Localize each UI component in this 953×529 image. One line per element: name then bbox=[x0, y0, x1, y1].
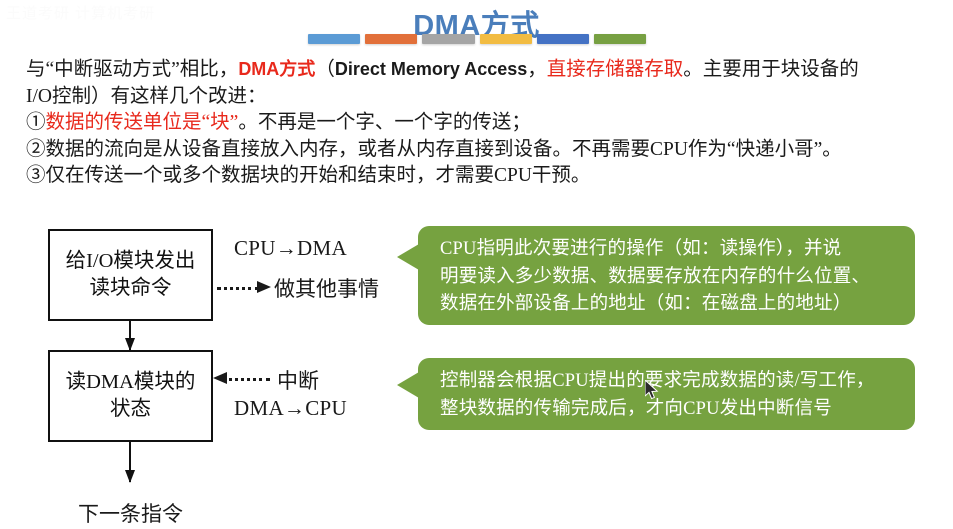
paragraph-intro: 与“中断驱动方式”相比，DMA方式（Direct Memory Access，直… bbox=[26, 56, 936, 84]
flowchart-label-cpu-to-dma: CPU→DMA bbox=[234, 236, 347, 261]
colorbar-segment-1 bbox=[308, 34, 360, 44]
callout-cpu-line3: 数据在外部设备上的地址（如：在磁盘上的地址） bbox=[440, 291, 899, 319]
callout-cpu-description: CPU指明此次要进行的操作（如：读操作），并说 明要读入多少数据、数据要存放在内… bbox=[418, 226, 915, 325]
flowchart-arrowhead-right-icon bbox=[257, 281, 271, 293]
flowchart-label-interrupt: 中断 bbox=[277, 365, 319, 395]
slide-canvas: 王道考研 计算机考研 DMA方式 与“中断驱动方式”相比，DMA方式（Direc… bbox=[0, 0, 953, 529]
flowchart-dotted-line-1 bbox=[217, 287, 259, 290]
list-item-1-rest: 。不再是一个字、一个字的传送； bbox=[238, 112, 531, 133]
title-colorbar bbox=[308, 34, 646, 44]
flowchart-label-next-instruction: 下一条指令 bbox=[78, 498, 183, 528]
callout-controller-line1: 控制器会根据CPU提出的要求完成数据的读/写工作， bbox=[440, 368, 899, 396]
intro-part-b: （ bbox=[315, 59, 335, 80]
intro-part-a: 与“中断驱动方式”相比， bbox=[26, 59, 238, 80]
list-item-3: ③仅在传送一个或多个数据块的开始和结束时，才需要CPU干预。 bbox=[26, 163, 936, 190]
box-dma-status-line1: 读DMA模块的 bbox=[66, 369, 196, 396]
flowchart-label-dma-to-cpu: DMA→CPU bbox=[234, 396, 347, 421]
callout-cpu-line2: 明要读入多少数据、数据要存放在内存的什么位置、 bbox=[440, 264, 899, 292]
paragraph-intro-line2: I/O控制）有这样几个改进： bbox=[26, 84, 936, 111]
list-item-1-number: ① bbox=[26, 112, 46, 133]
callout-cpu-line1: CPU指明此次要进行的操作（如：读操作），并说 bbox=[440, 236, 899, 264]
intro-dma-term: DMA方式 bbox=[238, 59, 315, 79]
intro-latin-term: Direct Memory Access bbox=[335, 59, 527, 79]
intro-red-term: 直接存储器存取 bbox=[547, 59, 684, 80]
callout-controller-description: 控制器会根据CPU提出的要求完成数据的读/写工作， 整块数据的传输完成后，才向C… bbox=[418, 358, 915, 430]
list-item-1-highlight: 数据的传送单位是“块” bbox=[46, 112, 239, 133]
flowchart-dotted-line-2 bbox=[222, 378, 270, 381]
intro-part-d: 。主要用于块设备的 bbox=[683, 59, 859, 80]
body-text-block: 与“中断驱动方式”相比，DMA方式（Direct Memory Access，直… bbox=[26, 56, 936, 190]
callout-tail-icon bbox=[397, 244, 419, 270]
flowchart-box-read-command: 给I/O模块发出 读块命令 bbox=[48, 229, 213, 321]
flowchart-arrow-down-2 bbox=[129, 442, 131, 482]
colorbar-segment-2 bbox=[365, 34, 417, 44]
colorbar-segment-6 bbox=[594, 34, 646, 44]
list-item-1: ①数据的传送单位是“块”。不再是一个字、一个字的传送； bbox=[26, 110, 936, 137]
colorbar-segment-5 bbox=[537, 34, 589, 44]
colorbar-segment-3 bbox=[422, 34, 474, 44]
box-read-command-line2: 读块命令 bbox=[66, 275, 196, 302]
callout-tail-icon bbox=[397, 372, 419, 398]
callout-controller-line2: 整块数据的传输完成后，才向CPU发出中断信号 bbox=[440, 396, 899, 424]
flowchart-arrow-down-1 bbox=[129, 321, 131, 350]
list-item-2: ②数据的流向是从设备直接放入内存，或者从内存直接到设备。不再需要CPU作为“快递… bbox=[26, 137, 936, 164]
box-dma-status-line2: 状态 bbox=[66, 396, 196, 423]
flowchart-arrowhead-left-icon bbox=[213, 372, 227, 384]
colorbar-segment-4 bbox=[480, 34, 532, 44]
flowchart-label-do-other-things: 做其他事情 bbox=[274, 273, 379, 303]
box-read-command-line1: 给I/O模块发出 bbox=[66, 248, 196, 275]
flowchart-box-dma-status: 读DMA模块的 状态 bbox=[48, 350, 213, 442]
intro-part-c: ， bbox=[527, 59, 547, 80]
